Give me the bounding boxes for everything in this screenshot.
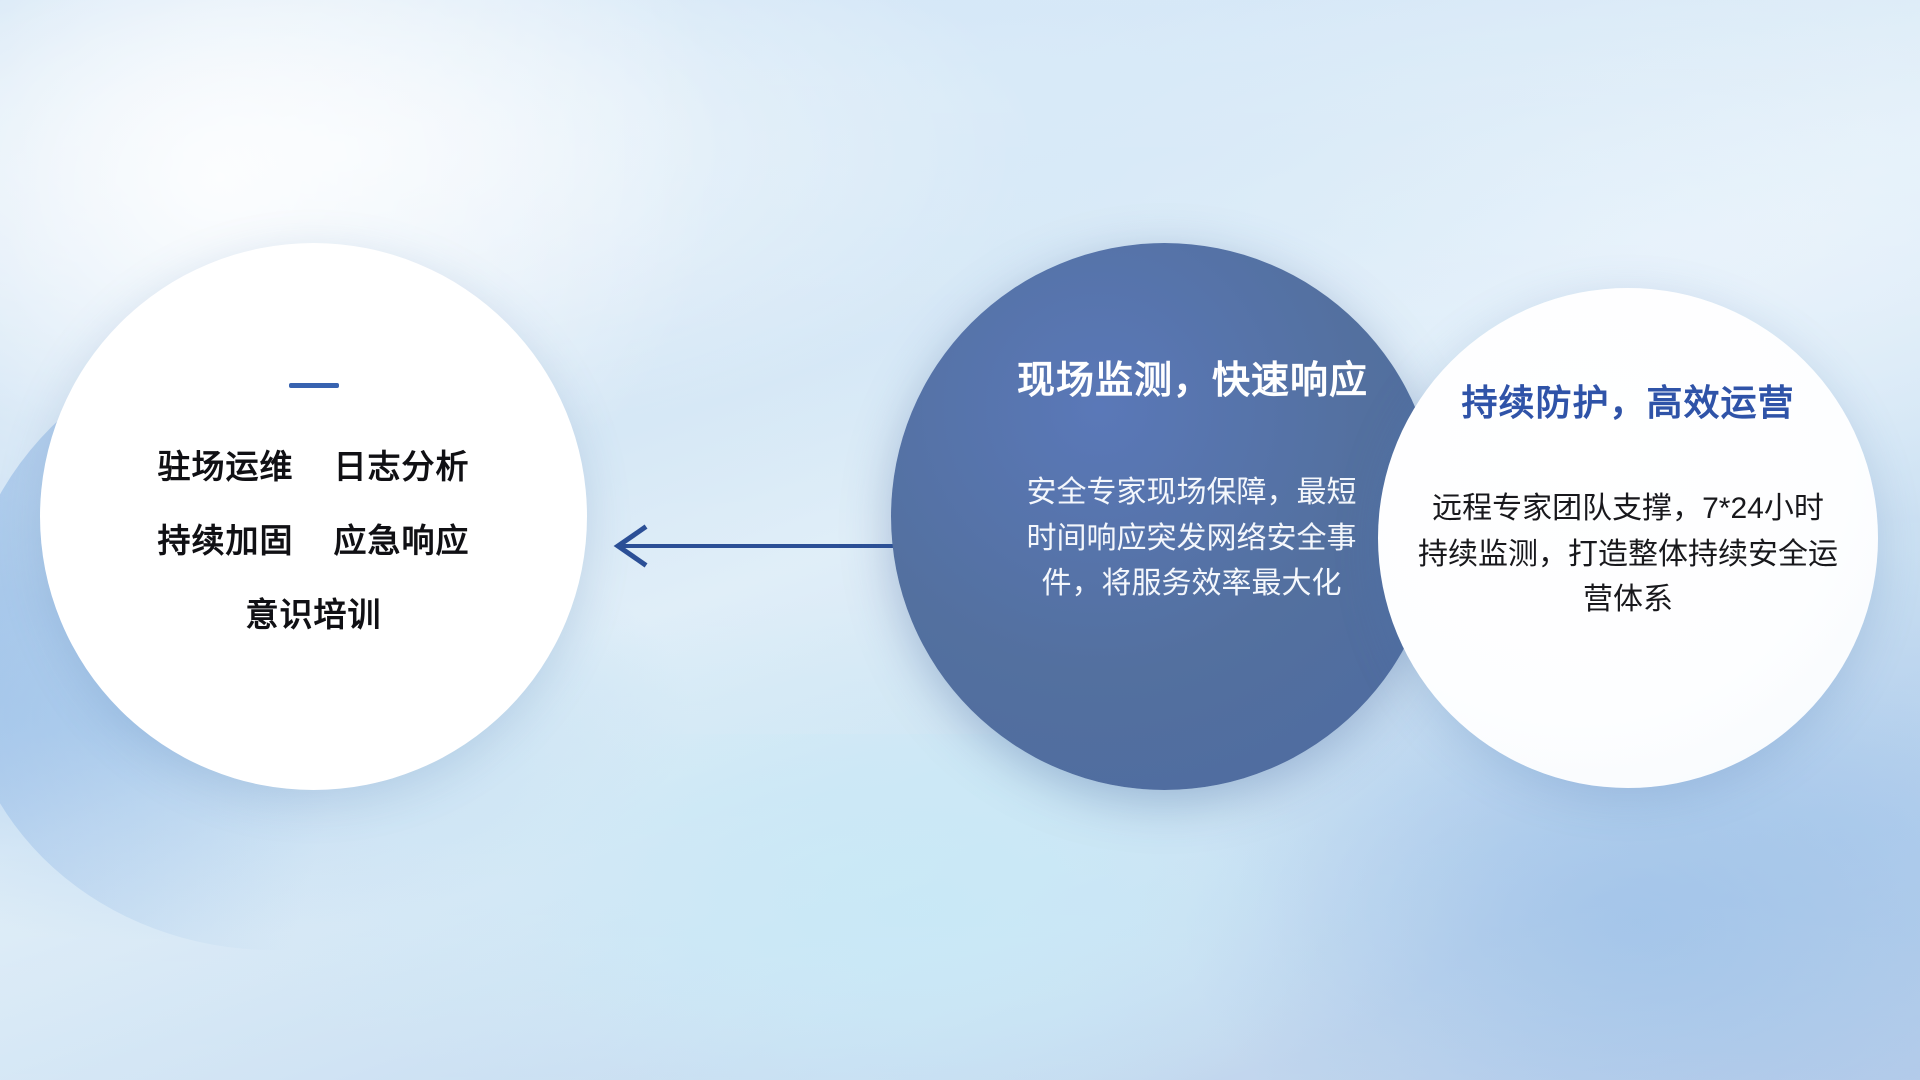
- capability-circle-right: 持续防护，高效运营 远程专家团队支撑，7*24小时持续监测，打造整体持续安全运营…: [1378, 288, 1878, 788]
- circle-title: 现场监测，快速响应: [1017, 349, 1368, 404]
- short-rule-icon: [289, 383, 339, 388]
- keyword-item: 应急响应: [334, 514, 470, 562]
- keyword-item: 日志分析: [334, 440, 470, 488]
- keyword-item: 意识培训: [246, 588, 382, 636]
- keyword-item: 驻场运维: [158, 440, 294, 488]
- capability-circle-middle: 现场监测，快速响应 安全专家现场保障，最短时间响应突发网络安全事件，将服务效率最…: [891, 243, 1438, 790]
- keyword-row: 驻场运维 日志分析: [158, 440, 470, 488]
- capability-keyword-list: 驻场运维 日志分析 持续加固 应急响应 意识培训: [158, 440, 470, 636]
- circle-title: 持续防护，高效运营: [1461, 374, 1794, 426]
- keyword-item: 持续加固: [158, 514, 294, 562]
- keyword-row: 持续加固 应急响应: [158, 514, 470, 562]
- arrow-left-icon: [600, 520, 900, 572]
- circle-body-text: 安全专家现场保障，最短时间响应突发网络安全事件，将服务效率最大化: [1027, 470, 1357, 607]
- circle-body-text: 远程专家团队支撑，7*24小时持续监测，打造整体持续安全运营体系: [1418, 486, 1838, 623]
- capability-circle-left: 驻场运维 日志分析 持续加固 应急响应 意识培训: [40, 243, 587, 790]
- keyword-row: 意识培训: [246, 588, 382, 636]
